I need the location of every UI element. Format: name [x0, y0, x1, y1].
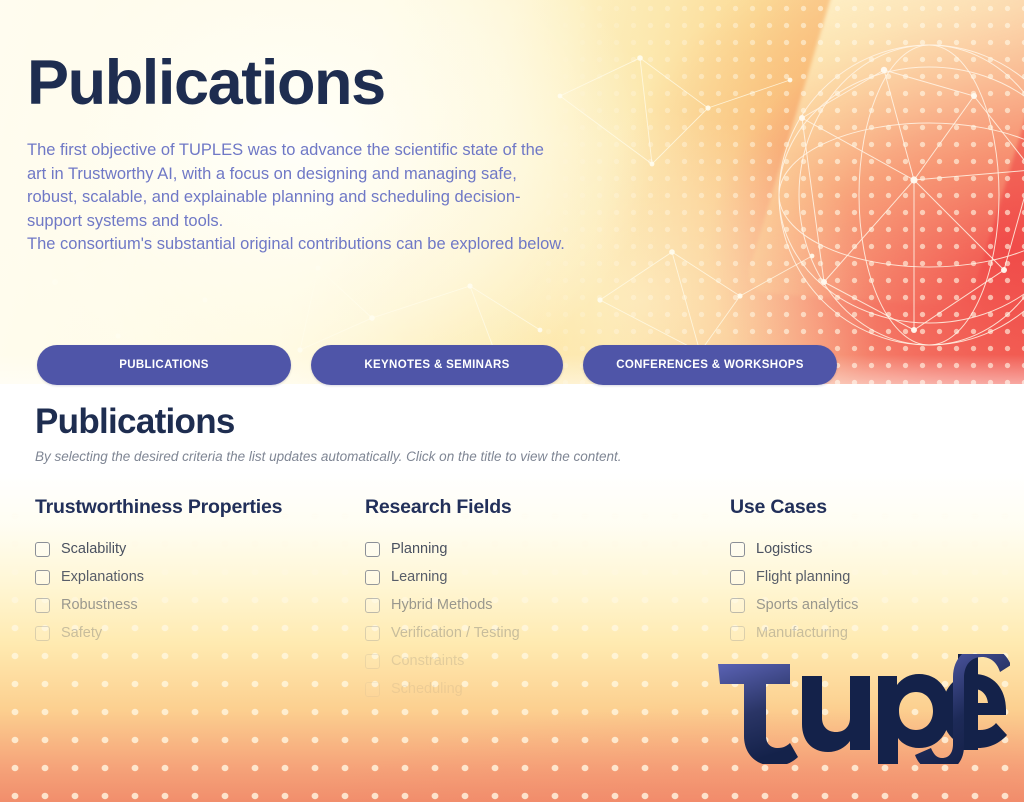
tab-bar: PUBLICATIONS KEYNOTES & SEMINARS CONFERE… [37, 345, 837, 385]
filter-option-scalability[interactable]: Scalability [35, 535, 365, 563]
tab-keynotes-seminars[interactable]: KEYNOTES & SEMINARS [311, 345, 563, 385]
filter-option-safety[interactable]: Safety [35, 619, 365, 647]
filter-options-use-cases: Logistics Flight planning Sports analyti… [730, 535, 1024, 647]
section-subtitle: By selecting the desired criteria the li… [35, 449, 622, 464]
checkbox-icon[interactable] [365, 626, 380, 641]
filter-option-planning[interactable]: Planning [365, 535, 730, 563]
page-root: Publications The first objective of TUPL… [0, 0, 1024, 802]
filter-group-trustworthiness-properties: Trustworthiness Properties Scalability E… [0, 496, 365, 703]
filter-option-manufacturing[interactable]: Manufacturing [730, 619, 1024, 647]
filter-option-verification-testing[interactable]: Verification / Testing [365, 619, 730, 647]
checkbox-icon[interactable] [365, 598, 380, 613]
page-title: Publications [27, 0, 627, 115]
filter-option-sports-analytics[interactable]: Sports analytics [730, 591, 1024, 619]
filter-option-constraints[interactable]: Constraints [365, 647, 730, 675]
filter-heading-research-fields: Research Fields [365, 496, 730, 519]
globe-network-icon [764, 30, 1024, 360]
filter-option-scheduling[interactable]: Scheduling [365, 675, 730, 703]
checkbox-icon[interactable] [365, 542, 380, 557]
checkbox-icon[interactable] [35, 626, 50, 641]
filter-option-robustness[interactable]: Robustness [35, 591, 365, 619]
tab-conferences-workshops[interactable]: CONFERENCES & WORKSHOPS [583, 345, 837, 385]
filter-group-research-fields: Research Fields Planning Learning Hyb [365, 496, 730, 703]
hero-banner: Publications The first objective of TUPL… [0, 0, 1024, 384]
checkbox-icon[interactable] [35, 570, 50, 585]
checkbox-icon[interactable] [35, 598, 50, 613]
hero-paragraph-1: The first objective of TUPLES was to adv… [27, 115, 567, 233]
filter-option-label: Safety [61, 626, 102, 641]
checkbox-icon[interactable] [730, 626, 745, 641]
filter-option-label: Flight planning [756, 570, 850, 585]
filter-option-label: Planning [391, 542, 447, 557]
filter-option-flight-planning[interactable]: Flight planning [730, 563, 1024, 591]
checkbox-icon[interactable] [365, 654, 380, 669]
checkbox-icon[interactable] [730, 598, 745, 613]
checkbox-icon[interactable] [365, 570, 380, 585]
filter-option-label: Robustness [61, 598, 138, 613]
filter-option-logistics[interactable]: Logistics [730, 535, 1024, 563]
tab-publications[interactable]: PUBLICATIONS [37, 345, 291, 385]
filter-options-research-fields: Planning Learning Hybrid Methods Ve [365, 535, 730, 703]
filter-option-label: Scalability [61, 542, 126, 557]
checkbox-icon[interactable] [730, 542, 745, 557]
tuples-logo-icon [710, 654, 1010, 764]
filter-option-hybrid-methods[interactable]: Hybrid Methods [365, 591, 730, 619]
filter-option-label: Sports analytics [756, 598, 858, 613]
filter-option-label: Constraints [391, 654, 464, 669]
section-title: Publications [35, 402, 235, 442]
filter-option-label: Scheduling [391, 682, 463, 697]
filter-heading-trustworthiness-properties: Trustworthiness Properties [35, 496, 365, 519]
filter-heading-use-cases: Use Cases [730, 496, 1024, 519]
filter-option-label: Verification / Testing [391, 626, 520, 641]
checkbox-icon[interactable] [365, 682, 380, 697]
filter-option-label: Learning [391, 570, 447, 585]
hero-content: Publications The first objective of TUPL… [27, 0, 627, 257]
filter-option-label: Hybrid Methods [391, 598, 493, 613]
filter-option-label: Logistics [756, 542, 812, 557]
filter-option-explanations[interactable]: Explanations [35, 563, 365, 591]
filter-options-trustworthiness-properties: Scalability Explanations Robustness [35, 535, 365, 647]
checkbox-icon[interactable] [35, 542, 50, 557]
filter-option-label: Manufacturing [756, 626, 848, 641]
filter-option-learning[interactable]: Learning [365, 563, 730, 591]
checkbox-icon[interactable] [730, 570, 745, 585]
hero-paragraph-2: The consortium's substantial original co… [27, 233, 567, 257]
filter-option-label: Explanations [61, 570, 144, 585]
